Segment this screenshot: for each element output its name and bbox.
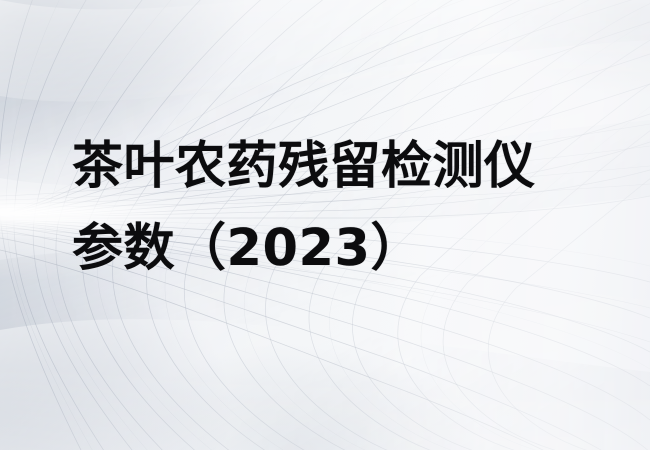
headline-line-1: 茶叶农药残留检测仪 <box>72 126 612 208</box>
headline-line-2: 参数（2023） <box>72 208 612 290</box>
title-banner: 茶叶农药残留检测仪 参数（2023） <box>0 0 650 450</box>
banner-headline: 茶叶农药残留检测仪 参数（2023） <box>72 126 612 290</box>
